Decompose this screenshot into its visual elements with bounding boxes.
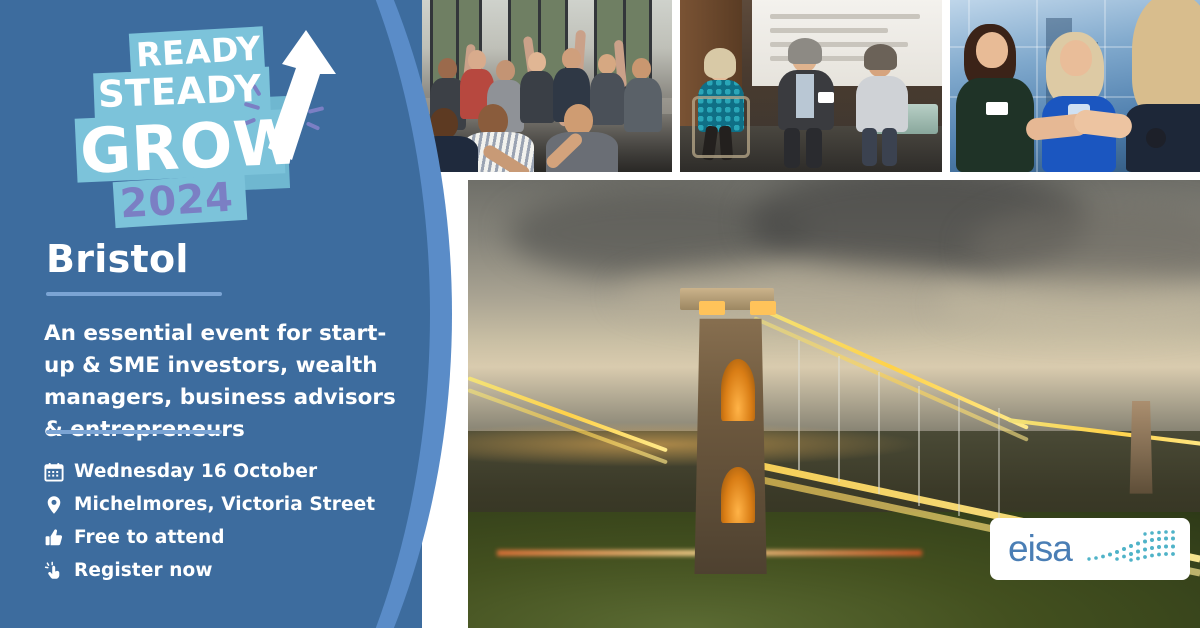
map-pin-icon [44, 493, 74, 517]
page-title: Bristol [46, 237, 189, 281]
detail-row-date: Wednesday 16 October [44, 455, 424, 488]
divider-bottom [46, 430, 222, 434]
photo-row-top [422, 0, 1200, 172]
detail-label-date: Wednesday 16 October [74, 461, 317, 482]
event-promo-banner: READY STEADY GROW 2024 Bristol An essent… [0, 0, 1200, 628]
ready-steady-grow-logo: READY STEADY GROW 2024 [52, 14, 352, 226]
networking-handshake-photo [950, 0, 1200, 172]
event-tagline: An essential event for start-up & SME in… [44, 318, 416, 446]
detail-row-price: Free to attend [44, 521, 424, 554]
event-details-list: Wednesday 16 October Michelmores, Victor… [44, 455, 424, 587]
audience-raised-hands-photo [422, 0, 672, 172]
eisa-logo: eisa [990, 518, 1190, 580]
detail-label-register: Register now [74, 560, 213, 581]
logo-text-grow: GROW [78, 105, 303, 188]
swoosh-dots-icon [1086, 528, 1182, 570]
panel-discussion-photo [680, 0, 942, 172]
divider-top [46, 292, 222, 296]
detail-row-register[interactable]: Register now [44, 554, 424, 587]
detail-label-price: Free to attend [74, 527, 225, 548]
detail-row-location: Michelmores, Victoria Street [44, 488, 424, 521]
detail-label-location: Michelmores, Victoria Street [74, 494, 375, 515]
calendar-icon [44, 460, 74, 484]
eisa-wordmark: eisa [1008, 528, 1072, 570]
thumbs-up-icon [44, 526, 74, 550]
logo-text-year: 2024 [119, 174, 235, 227]
click-hand-icon [44, 559, 74, 583]
